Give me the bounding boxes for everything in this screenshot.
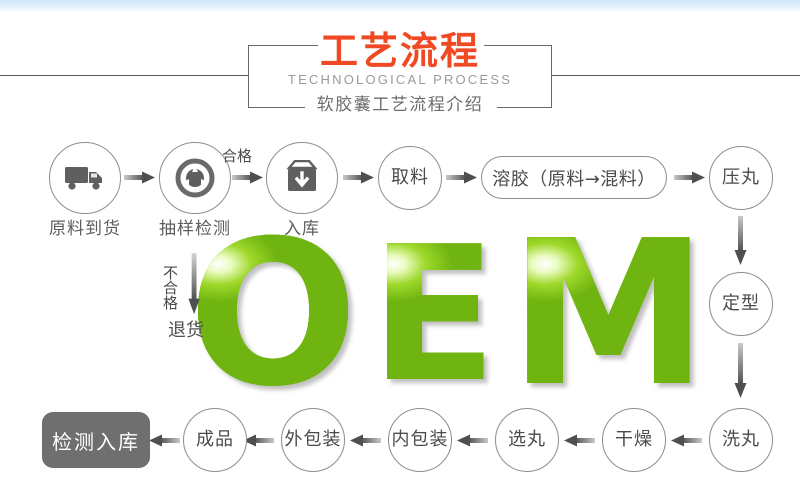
arrow-right-1 (124, 171, 156, 184)
node-label-final-inspection-stock: 检测入库 (52, 426, 140, 455)
label-pass-qualified: 合格 (222, 148, 252, 165)
process-flow-diagram: 原料到货 抽样检测 合格 入库 (0, 0, 800, 499)
node-label-pill-washing: 洗丸 (722, 430, 760, 450)
node-finished-goods[interactable]: 成品 (183, 408, 247, 472)
node-shaping[interactable]: 定型 (709, 272, 773, 336)
node-label-pill-pressing: 压丸 (722, 168, 760, 188)
arrow-down-1 (734, 216, 747, 266)
node-sampling-inspection[interactable] (159, 142, 231, 214)
node-pill-pressing[interactable]: 压丸 (709, 146, 773, 210)
arrow-right-5 (674, 171, 706, 184)
arrow-left-2 (563, 434, 595, 447)
arrow-down-2 (734, 343, 747, 399)
arrow-left-3 (456, 434, 488, 447)
label-fail-unqualified: 不合格 (160, 265, 181, 310)
node-label-pill-selection: 选丸 (508, 430, 546, 450)
node-drying[interactable]: 干燥 (602, 408, 666, 472)
node-material-taking[interactable]: 取料 (378, 146, 442, 210)
node-pill-selection[interactable]: 选丸 (495, 408, 559, 472)
arrow-right-2 (232, 171, 264, 184)
node-label-material-taking: 取料 (391, 168, 429, 188)
inbox-box-icon (283, 160, 321, 196)
node-label-sol-gel: 溶胶（原料→混料） (492, 165, 656, 191)
node-pill-washing[interactable]: 洗丸 (709, 408, 773, 472)
caption-warehouse-in: 入库 (246, 219, 358, 239)
label-reject-return: 退货 (168, 322, 204, 339)
inspection-gear-icon (174, 157, 216, 199)
arrow-right-3 (343, 171, 375, 184)
node-label-finished-goods: 成品 (196, 430, 234, 450)
node-warehouse-in[interactable] (266, 142, 338, 214)
node-label-outer-packing: 外包装 (285, 430, 342, 450)
node-sol-gel[interactable]: 溶胶（原料→混料） (481, 156, 667, 199)
arrow-down-reject (188, 246, 201, 322)
node-label-shaping: 定型 (722, 294, 760, 314)
arrow-left-1 (670, 434, 702, 447)
node-label-drying: 干燥 (615, 430, 653, 450)
truck-icon (64, 163, 106, 193)
node-raw-material-arrival[interactable] (49, 142, 121, 214)
caption-raw-material-arrival: 原料到货 (29, 219, 141, 239)
caption-sampling-inspection: 抽样检测 (139, 219, 251, 239)
arrow-left-6 (148, 434, 180, 447)
node-inner-packing[interactable]: 内包装 (388, 408, 452, 472)
node-final-inspection-stock[interactable]: 检测入库 (42, 412, 150, 468)
arrow-left-4 (349, 434, 381, 447)
arrow-right-4 (446, 171, 478, 184)
node-outer-packing[interactable]: 外包装 (281, 408, 345, 472)
node-label-inner-packing: 内包装 (392, 430, 449, 450)
